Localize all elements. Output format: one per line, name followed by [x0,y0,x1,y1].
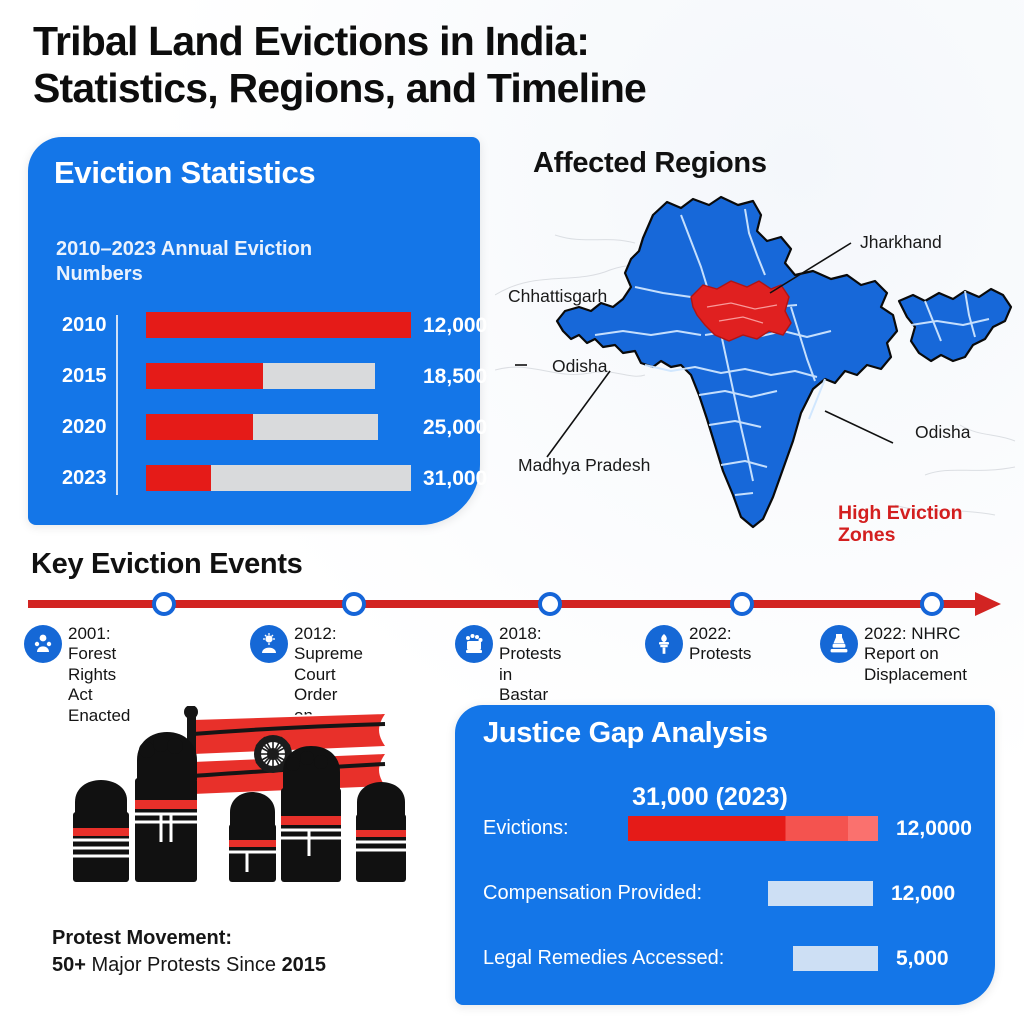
timeline-event-line: Court Order [294,665,337,704]
justice-gap-bar [628,816,878,841]
map-label-madhya-pradesh: Madhya Pradesh [518,455,650,476]
bar-track [146,312,411,338]
map-label-jharkhand: Jharkhand [860,232,942,253]
timeline-event-label: 2018:Protests inBastar [499,624,561,706]
timeline-event-line: 2012: Supreme [294,624,363,663]
protest-crowd-icon [455,625,493,663]
justice-gap-row: Legal Remedies Accessed:5,000 [483,945,978,973]
high-eviction-zones-legend: High Eviction Zones [838,503,1013,547]
eviction-bar-chart: 201012,000201518,500202025,000202331,000 [46,312,476,516]
title-line-2: Statistics, Regions, and Timeline [33,65,893,112]
bar-track [146,363,375,389]
page-title: Tribal Land Evictions in India: Statisti… [33,18,893,112]
bar-segment-red [146,363,263,389]
bar-row: 201518,500 [46,363,476,391]
protest-caption-mid: Major Protests Since [86,954,282,976]
justice-gap-row: Evictions:12,0000 [483,815,978,843]
justice-gap-header-value: 31,000 (2023) [455,783,995,812]
justice-gap-row: Compensation Provided:12,000 [483,880,978,908]
eviction-statistics-panel: Eviction Statistics 2010–2023 Annual Evi… [28,137,480,525]
timeline-event-line: 2022: NHRC [864,624,960,643]
justice-gap-value: 5,000 [896,947,949,971]
bar-segment-grey [211,465,411,491]
timeline-event-line: 2001: Forest Rights [68,624,116,684]
bar-year-label: 2020 [62,416,128,439]
justice-gap-title: Justice Gap Analysis [483,717,768,750]
bar-segment-red [146,465,211,491]
key-eviction-events-title: Key Eviction Events [31,548,303,581]
map-label-chhattisgarh: Chhattisgarh [508,286,607,307]
timeline-marker-dot[interactable] [152,592,176,616]
protest-count: 50+ [52,954,86,976]
timeline-arrow-icon [975,592,1001,616]
bar-row: 202025,000 [46,414,476,442]
protest-year: 2015 [282,954,327,976]
timeline-event-line: 2022: [689,624,732,643]
bar-year-label: 2015 [62,365,128,388]
justice-gap-panel: Justice Gap Analysis 31,000 (2023) Evict… [455,705,995,1005]
justice-gap-bar [768,881,873,906]
bar-segment-grey [253,414,378,440]
justice-gap-label: Compensation Provided: [483,882,702,905]
report-document-icon [820,625,858,663]
protest-caption-heading: Protest Movement: [52,925,452,952]
justice-gap-label: Legal Remedies Accessed: [483,947,724,970]
bar-segment-red [146,414,253,440]
bar-row: 202331,000 [46,465,476,493]
justice-gap-value: 12,0000 [896,817,972,841]
bar-track [146,465,411,491]
justice-gap-value: 12,000 [891,882,955,906]
torch-protest-icon [645,625,683,663]
legend-line-1: High Eviction [838,502,963,524]
bar-year-label: 2010 [62,314,128,337]
timeline-marker-dot[interactable] [538,592,562,616]
bar-row: 201012,000 [46,312,476,340]
timeline-event-label: 2022:Protests [689,624,751,665]
timeline-event-line: Report on [864,644,939,663]
justice-gap-bar [793,946,878,971]
protest-illustration [55,706,445,906]
court-verdict-icon [250,625,288,663]
timeline-event-line: Protests [689,644,751,663]
justice-gap-label: Evictions: [483,817,569,840]
timeline-marker-dot[interactable] [730,592,754,616]
eviction-statistics-subtitle: 2010–2023 Annual Eviction Numbers [56,237,316,287]
timeline-event-label: 2022: NHRCReport onDisplacement [864,624,967,685]
legend-line-2: Zones [838,524,895,546]
bar-segment-red [146,312,411,338]
bar-year-label: 2023 [62,467,128,490]
title-line-1: Tribal Land Evictions in India: [33,18,589,64]
timeline-event-line: Displacement [864,665,967,684]
map-label-odisha-right: Odisha [915,422,970,443]
timeline-event-line: 2018: [499,624,542,643]
timeline-marker-dot[interactable] [342,592,366,616]
bar-track [146,414,378,440]
india-map [495,175,1024,535]
protest-caption: Protest Movement: 50+ Major Protests Sin… [52,925,452,979]
timeline-event-line: Bastar [499,685,548,704]
map-label-odisha-left: Odisha [552,356,607,377]
forest-rights-people-icon [24,625,62,663]
timeline-event-line: Protests in [499,644,561,683]
timeline-marker-dot[interactable] [920,592,944,616]
bar-segment-grey [263,363,375,389]
eviction-statistics-title: Eviction Statistics [54,155,315,191]
